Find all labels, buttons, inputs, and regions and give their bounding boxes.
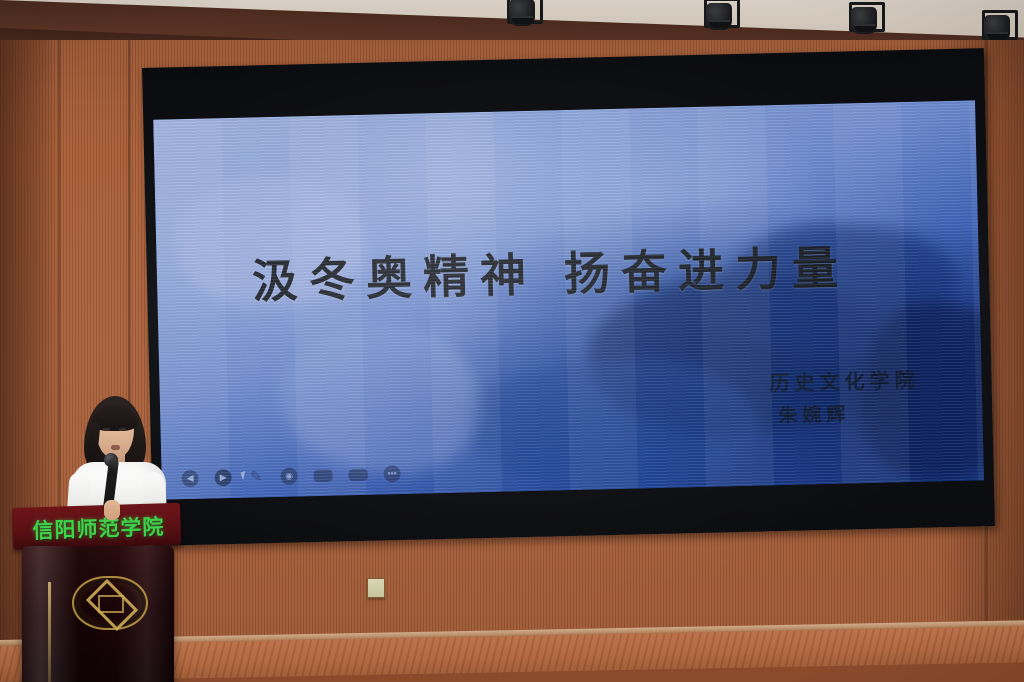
slide-view-button[interactable] xyxy=(314,469,333,481)
laser-pointer-button[interactable]: ◉ xyxy=(280,467,297,484)
led-screen[interactable]: 汲冬奥精神 扬奋进力量 历史文化学院 朱婉辉 ◀ ▶ ✎ ◉ ••• xyxy=(142,48,995,546)
spotlight-lens xyxy=(987,32,1008,40)
previous-slide-button[interactable]: ◀ xyxy=(181,470,198,487)
slide-presenter-name: 朱婉辉 xyxy=(778,399,851,428)
spotlight-lens xyxy=(512,16,533,24)
podium-rod xyxy=(48,582,51,682)
slide-organization: 历史文化学院 xyxy=(769,364,920,397)
mouse-cursor xyxy=(240,471,247,480)
spotlight-lens xyxy=(709,20,730,28)
more-options-button[interactable]: ••• xyxy=(383,465,400,482)
spotlight-icon xyxy=(505,0,539,34)
eye-left xyxy=(103,428,110,431)
mouth xyxy=(111,445,120,450)
podium-body xyxy=(22,546,174,682)
wall-outlet-panel xyxy=(367,578,385,598)
eye-right xyxy=(119,428,126,431)
screen-panel[interactable]: 汲冬奥精神 扬奋进力量 历史文化学院 朱婉辉 ◀ ▶ ✎ ◉ ••• xyxy=(153,100,984,499)
lecture-hall-photo: 汲冬奥精神 扬奋进力量 历史文化学院 朱婉辉 ◀ ▶ ✎ ◉ ••• xyxy=(0,0,1024,682)
spotlight-lens xyxy=(854,24,875,32)
hand xyxy=(104,500,120,520)
podium-emblem-icon xyxy=(72,576,148,630)
spotlight-icon xyxy=(702,0,736,38)
spotlight-icon xyxy=(847,2,881,42)
pen-tool-button[interactable]: ✎ xyxy=(247,468,264,485)
next-slide-button[interactable]: ▶ xyxy=(214,469,231,486)
podium: 信阳师范学院 xyxy=(8,508,180,682)
zoom-button[interactable] xyxy=(348,468,367,480)
